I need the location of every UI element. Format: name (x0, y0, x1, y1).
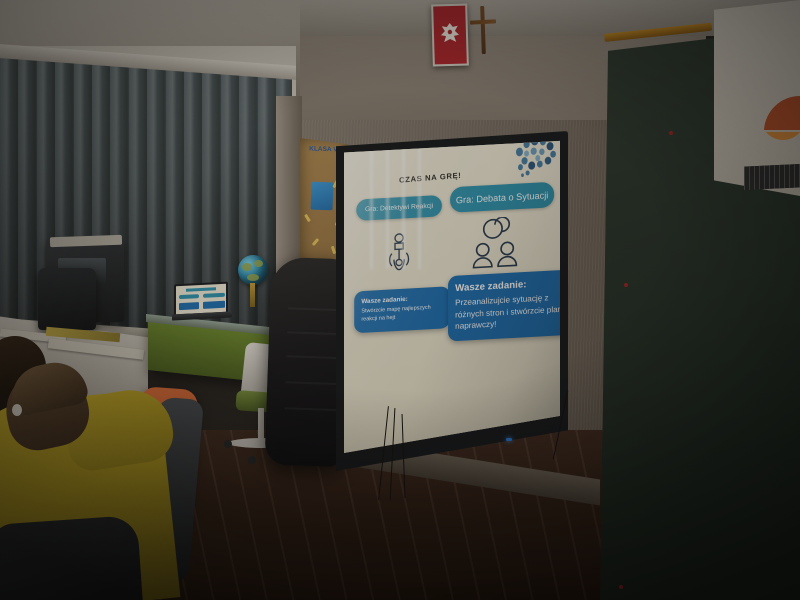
display-screen[interactable]: CZAS NA GRĘ! Gra: Detektywi Reakcji Gra:… (344, 139, 560, 461)
orange-arc-graphic (744, 96, 800, 160)
blind-slat (18, 53, 35, 353)
task-card-left: Wasze zadanie: Stwórzcie mapę najlepszyc… (354, 286, 450, 333)
coat-fold (288, 307, 342, 311)
lesson-slide: CZAS NA GRĘ! Gra: Detektywi Reakcji Gra:… (344, 139, 560, 461)
cork-decor-strip (304, 214, 311, 222)
classroom-photo: KLASA VIII (0, 0, 800, 600)
coat-fold (285, 381, 339, 385)
laptop-slide-pill (179, 294, 199, 299)
laptop-slide-task (179, 302, 199, 310)
world-globe[interactable] (238, 255, 268, 285)
coat-fold (284, 407, 338, 411)
blind-slat (239, 70, 256, 354)
blind-slat (147, 63, 164, 354)
office-chair-column (258, 408, 264, 442)
display-power-led (506, 438, 512, 441)
globe-landmass (247, 274, 259, 281)
teacher-laptop[interactable] (174, 283, 232, 321)
polish-coat-of-arms (431, 4, 469, 67)
slide-title: CZAS NA GRĘ! (399, 171, 462, 185)
cork-board-card (311, 182, 334, 211)
globe-landmass (254, 260, 263, 267)
cork-decor-strip (312, 238, 319, 246)
game-pill-debata[interactable]: Gra: Debata o Sytuacji (450, 182, 554, 213)
game-pill-detektywi[interactable]: Gra: Detektywi Reakcji (356, 195, 442, 221)
chair-caster (248, 456, 256, 464)
blind-slat (0, 52, 17, 353)
eagle-emblem-icon (433, 6, 467, 65)
magnet[interactable] (619, 585, 623, 589)
dot-brain-logo (511, 139, 558, 179)
student-1-earbud (12, 404, 22, 416)
blind-slat (129, 61, 146, 353)
laptop-bag[interactable] (38, 268, 96, 330)
chair-caster (224, 440, 232, 448)
globe-landmass (242, 263, 252, 271)
laptop-screen (176, 284, 226, 315)
globe-stand (250, 283, 255, 307)
detective-magnifier-icon (371, 226, 428, 278)
coat-fold (287, 331, 341, 335)
foreground-chair[interactable] (0, 515, 143, 600)
task-text-left: Stwórzcie mapę najlepszych reakcji na he… (361, 304, 443, 324)
interactive-display[interactable]: CZAS NA GRĘ! Gra: Detektywi Reakcji Gra:… (336, 131, 568, 471)
magnet[interactable] (669, 131, 673, 135)
laptop-slide-task (203, 301, 225, 309)
magnet[interactable] (624, 283, 628, 287)
speaker-vent (744, 164, 800, 190)
laptop-slide-title (186, 287, 216, 291)
group-discussion-icon (458, 212, 538, 275)
coat-fold (286, 355, 340, 359)
task-card-right: Wasze zadanie: Przeanalizujcie sytuację … (448, 270, 560, 342)
laptop-slide-pill (203, 293, 225, 298)
task-text-right: Przeanalizujcie sytuację z różnych stron… (455, 291, 560, 332)
